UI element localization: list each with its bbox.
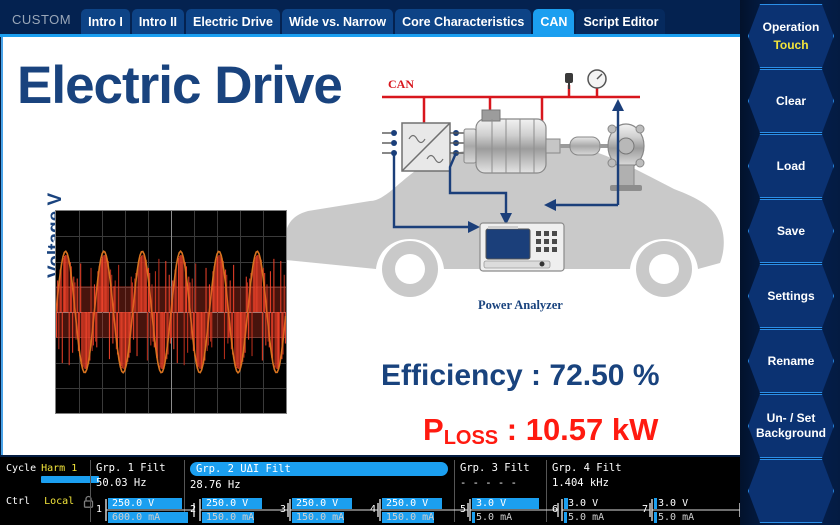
lock-icon bbox=[83, 495, 94, 508]
channel-volt-value: 250.0 V bbox=[108, 498, 192, 509]
motor-icon bbox=[464, 110, 560, 173]
car-diagram-svg bbox=[278, 55, 728, 325]
group-readout[interactable]: Grp. 1 Filt50.03 Hz bbox=[96, 462, 166, 489]
power-loss-subscript: LOSS bbox=[444, 427, 498, 449]
channel-amp-value: 5.0 mA bbox=[472, 512, 556, 523]
group-header: Grp. 1 Filt bbox=[96, 462, 166, 474]
channel-volt-row: 3.0 V bbox=[472, 498, 556, 509]
group-header: Grp. 2 UΔI Filt bbox=[190, 462, 448, 476]
sidebar-button-sublabel: Touch bbox=[773, 38, 808, 53]
channel-readout[interactable]: 63.0 V5.0 mA bbox=[552, 497, 650, 523]
group-value: 1.404 kHz bbox=[552, 477, 622, 489]
channel-amp-value: 150.0 mA bbox=[382, 512, 466, 523]
sidebar-button-clear[interactable]: Clear bbox=[748, 69, 834, 133]
status-bar: Cycle Harm 1 Ctrl Local Grp. 1 Filt50.03… bbox=[0, 457, 740, 525]
channel-number: 2 bbox=[190, 504, 196, 515]
tab-script-editor[interactable]: Script Editor bbox=[576, 9, 665, 34]
channel-readout[interactable]: 4250.0 V150.0 mA bbox=[370, 497, 468, 523]
channel-number: 7 bbox=[642, 504, 648, 515]
tab-electric-drive[interactable]: Electric Drive bbox=[186, 9, 280, 34]
custom-label: CUSTOM bbox=[0, 12, 81, 34]
channel-volt-value: 3.0 V bbox=[564, 498, 648, 509]
channel-amp-row: 5.0 mA bbox=[472, 512, 556, 523]
waveform-svg bbox=[56, 211, 286, 413]
sidebar-button-rename[interactable]: Rename bbox=[748, 329, 834, 393]
channel-number: 3 bbox=[280, 504, 286, 515]
group-readout[interactable]: Grp. 2 UΔI Filt28.76 Hz bbox=[190, 462, 448, 491]
channel-volt-value: 250.0 V bbox=[382, 498, 466, 509]
channel-volt-value: 3.0 V bbox=[472, 498, 556, 509]
group-value: - - - - - bbox=[460, 477, 530, 489]
power-loss-separator: : bbox=[498, 412, 526, 447]
ctrl-value[interactable]: Local bbox=[44, 496, 74, 507]
channel-volt-row: 250.0 V bbox=[292, 498, 376, 509]
channel-volt-row: 250.0 V bbox=[202, 498, 286, 509]
channel-amp-row: 150.0 mA bbox=[292, 512, 376, 523]
tab-list: Intro IIntro IIElectric DriveWide vs. Na… bbox=[81, 9, 667, 34]
channel-readout[interactable]: 3250.0 V150.0 mA bbox=[280, 497, 378, 523]
channel-volt-row: 3.0 V bbox=[654, 498, 738, 509]
power-loss-value: 10.57 kW bbox=[526, 412, 659, 447]
channel-number: 4 bbox=[370, 504, 376, 515]
channel-amp-row: 5.0 mA bbox=[564, 512, 648, 523]
channel-readout[interactable]: 53.0 V5.0 mA bbox=[460, 497, 558, 523]
instrument-screen: CUSTOM Intro IIntro IIElectric DriveWide… bbox=[0, 0, 840, 525]
sidebar-button-operation[interactable]: OperationTouch bbox=[748, 4, 834, 68]
channel-volt-value: 250.0 V bbox=[202, 498, 286, 509]
scope-display[interactable] bbox=[55, 210, 287, 414]
status-separator bbox=[90, 460, 91, 522]
channel-number: 1 bbox=[96, 504, 102, 515]
channel-amp-row: 600.0 mA bbox=[108, 512, 192, 523]
electric-drive-diagram: CAN Power Analyzer bbox=[278, 55, 728, 330]
group-readout[interactable]: Grp. 4 Filt1.404 kHz bbox=[552, 462, 622, 489]
channel-amp-value: 5.0 mA bbox=[654, 512, 738, 523]
main-content: Electric Drive bbox=[1, 37, 740, 455]
channel-number: 6 bbox=[552, 504, 558, 515]
inverter-icon bbox=[402, 123, 450, 171]
group-value: 50.03 Hz bbox=[96, 477, 166, 489]
can-bus-label: CAN bbox=[388, 77, 414, 92]
channel-volt-value: 3.0 V bbox=[654, 498, 738, 509]
sidebar-button-settings[interactable]: Settings bbox=[748, 264, 834, 328]
power-analyzer-icon bbox=[480, 223, 564, 271]
cycle-block: Cycle Harm 1 Ctrl Local bbox=[6, 463, 99, 508]
tab-core-characteristics[interactable]: Core Characteristics bbox=[395, 9, 531, 34]
efficiency-label: Efficiency : bbox=[381, 359, 541, 392]
channel-amp-row: 5.0 mA bbox=[654, 512, 738, 523]
sidebar-button-un-set-background[interactable]: Un- / SetBackground bbox=[748, 394, 834, 458]
tab-intro-i[interactable]: Intro I bbox=[81, 9, 130, 34]
channel-volt-row: 250.0 V bbox=[382, 498, 466, 509]
channel-amp-value: 150.0 mA bbox=[202, 512, 286, 523]
efficiency-value: 72.50 % bbox=[549, 359, 659, 392]
channel-volt-row: 3.0 V bbox=[564, 498, 648, 509]
channel-amp-value: 5.0 mA bbox=[564, 512, 648, 523]
tab-wide-vs-narrow[interactable]: Wide vs. Narrow bbox=[282, 9, 393, 34]
tab-intro-ii[interactable]: Intro II bbox=[132, 9, 184, 34]
sidebar-button-save[interactable]: Save bbox=[748, 199, 834, 263]
group-header: Grp. 3 Filt bbox=[460, 462, 530, 474]
scope-panel: Voltage V VFD Output bbox=[55, 210, 287, 414]
channel-volt-value: 250.0 V bbox=[292, 498, 376, 509]
efficiency-readout: Efficiency : 72.50 % bbox=[381, 359, 660, 393]
group-readout[interactable]: Grp. 3 Filt- - - - - bbox=[460, 462, 530, 489]
channel-volt-row: 250.0 V bbox=[108, 498, 192, 509]
sidebar-button-load[interactable]: Load bbox=[748, 134, 834, 198]
channel-readout[interactable]: 2250.0 V150.0 mA bbox=[190, 497, 288, 523]
power-loss-readout: PLOSS : 10.57 kW bbox=[423, 412, 658, 448]
channel-amp-value: 600.0 mA bbox=[108, 512, 192, 523]
tab-bar: CUSTOM Intro IIntro IIElectric DriveWide… bbox=[0, 0, 740, 34]
channel-readout[interactable]: 1250.0 V600.0 mA bbox=[96, 497, 194, 523]
channel-amp-row: 150.0 mA bbox=[382, 512, 466, 523]
channel-amp-row: 150.0 mA bbox=[202, 512, 286, 523]
group-header: Grp. 4 Filt bbox=[552, 462, 622, 474]
power-analyzer-label: Power Analyzer bbox=[478, 298, 563, 313]
sidebar-button-label: Un- / SetBackground bbox=[756, 411, 826, 441]
sidebar-button-label: Clear bbox=[776, 94, 806, 109]
ctrl-label: Ctrl bbox=[6, 496, 30, 507]
phase-terminals-left bbox=[382, 130, 397, 156]
channel-amp-value: 150.0 mA bbox=[292, 512, 376, 523]
sidebar: OperationTouchClearLoadSaveSettingsRenam… bbox=[740, 0, 840, 525]
power-loss-label: P bbox=[423, 412, 444, 447]
cycle-label: Cycle bbox=[6, 463, 36, 474]
sidebar-button-label: Operation bbox=[763, 20, 820, 35]
sidebar-button-label: Rename bbox=[768, 354, 815, 369]
tab-can[interactable]: CAN bbox=[533, 9, 574, 34]
sidebar-button-label: Load bbox=[777, 159, 806, 174]
channel-number: 5 bbox=[460, 504, 466, 515]
sidebar-button-label: Settings bbox=[767, 289, 814, 304]
channel-readout[interactable]: 73.0 V5.0 mA bbox=[642, 497, 740, 523]
sidebar-button-label: Save bbox=[777, 224, 805, 239]
sensor-icons bbox=[565, 70, 606, 89]
sidebar-button-empty[interactable] bbox=[748, 459, 834, 523]
group-value: 28.76 Hz bbox=[190, 479, 448, 491]
